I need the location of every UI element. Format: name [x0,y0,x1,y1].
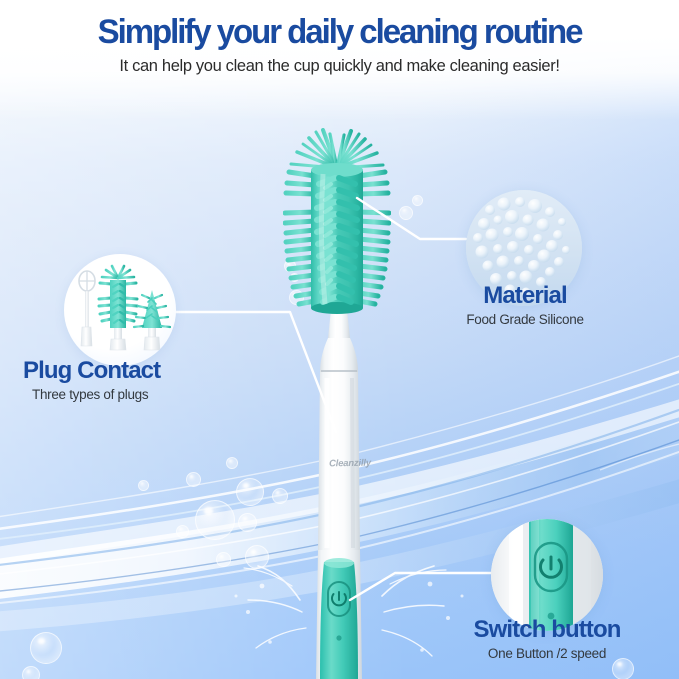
page-title: Simplify your daily cleaning routine [10,14,669,51]
callout-material: Material Food Grade Silicone [452,283,598,329]
bubble [272,488,288,504]
bubble [238,513,257,532]
three-brush-heads-icon [64,254,176,366]
plug-contact-icon-circle [64,254,176,366]
header-block: Simplify your daily cleaning routine It … [0,14,679,76]
callout-title-material: Material [452,283,598,309]
bubble [412,195,423,206]
switch-button-icon-circle [491,519,603,631]
bubble [30,632,62,664]
bubble [236,478,264,506]
product-infographic: Simplify your daily cleaning routine It … [0,0,679,679]
bubble [245,545,269,569]
bubble [22,666,40,679]
bubble [195,500,235,540]
bubble [138,480,149,491]
bubble [186,472,201,487]
callout-title-switch-button: Switch button [441,617,653,643]
callout-subtitle-switch-button: One Button /2 speed [441,646,653,662]
bubble [226,457,238,469]
silicone-brush-head [283,128,391,323]
bubble [216,552,231,567]
bubble [399,206,413,220]
power-button-icon [491,519,603,631]
page-subtitle: It can help you clean the cup quickly an… [0,57,679,76]
callout-subtitle-material: Food Grade Silicone [452,312,598,328]
bubble [176,525,189,538]
callout-subtitle-plug-contact: Three types of plugs [32,387,160,403]
brush-handle [296,300,382,679]
callout-title-plug-contact: Plug Contact [23,358,160,384]
callout-plug-contact: Plug Contact Three types of plugs [23,358,160,404]
callout-switch-button: Switch button One Button /2 speed [441,617,653,663]
